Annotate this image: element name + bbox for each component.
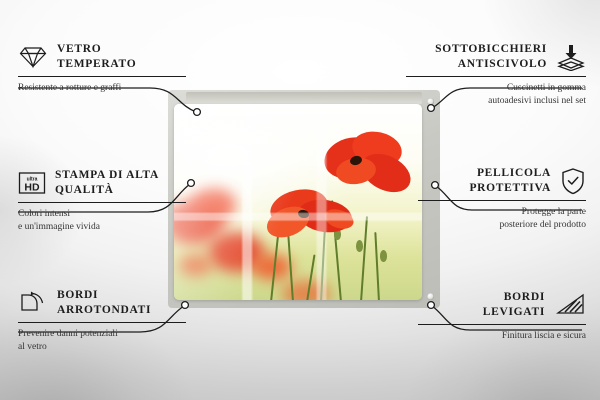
feature-desc: Prevenire danni potenziali: [18, 328, 186, 341]
feature-title: PELLICOLA: [469, 166, 551, 181]
polished-edge-stripes-icon: [554, 293, 586, 317]
feature-desc: Protegge la parte: [418, 206, 586, 219]
feature-title: LEVIGATI: [483, 305, 545, 320]
board-top-strip: [186, 92, 422, 104]
feature-title: TEMPERATO: [57, 57, 136, 72]
feature-title: ANTISCIVOLO: [435, 57, 547, 72]
feature-desc: Colori intensi: [18, 208, 186, 221]
glass-panel-artwork: [174, 104, 422, 300]
feature-rule: [18, 322, 186, 323]
infographic-canvas: VETRO TEMPERATO Resistente a rotture e g…: [0, 0, 600, 400]
feature-rule: [418, 200, 586, 201]
feature-desc: posteriore del prodotto: [418, 219, 586, 232]
feature-desc: al vetro: [18, 341, 186, 354]
feature-rule: [406, 76, 586, 77]
feature-desc: e un'immagine vivida: [18, 221, 186, 234]
glass-glare: [192, 104, 218, 124]
rounded-corner-icon: [18, 290, 48, 316]
feature-stampa-alta-qualita: ultra HD STAMPA DI ALTA QUALITÀ Colori i…: [18, 168, 186, 233]
feature-desc: autoadesivi inclusi nel set: [406, 95, 586, 108]
feature-desc: Finitura liscia e sicura: [418, 330, 586, 343]
feature-title: STAMPA DI ALTA: [55, 168, 159, 183]
feature-desc: Cuscinetti in gomma: [406, 82, 586, 95]
feature-title: BORDI: [57, 288, 151, 303]
feature-title: PROTETTIVA: [469, 181, 551, 196]
feature-title: VETRO: [57, 42, 136, 57]
feature-title: QUALITÀ: [55, 183, 159, 198]
ultra-hd-badge-icon: ultra HD: [18, 171, 46, 195]
feature-sottobicchieri-antiscivolo: SOTTOBICCHIERI ANTISCIVOLO Cuscinetti in…: [406, 42, 586, 107]
feature-rule: [18, 202, 186, 203]
feature-desc: Resistente a rotture e graffi: [18, 82, 186, 95]
product-image: [168, 90, 440, 308]
feature-title: ARROTONDATI: [57, 303, 151, 318]
non-slip-pad-icon: [556, 43, 586, 71]
feature-rule: [18, 76, 186, 77]
shield-check-icon: [560, 167, 586, 195]
feature-title: SOTTOBICCHIERI: [435, 42, 547, 57]
feature-vetro-temperato: VETRO TEMPERATO Resistente a rotture e g…: [18, 42, 186, 95]
feature-bordi-arrotondati: BORDI ARROTONDATI Prevenire danni potenz…: [18, 288, 186, 353]
feature-title: BORDI: [483, 290, 545, 305]
svg-text:HD: HD: [24, 181, 40, 193]
feature-pellicola-protettiva: PELLICOLA PROTETTIVA Protegge la parte p…: [418, 166, 586, 231]
diamond-icon: [18, 45, 48, 69]
feature-rule: [418, 324, 586, 325]
feature-bordi-levigati: BORDI LEVIGATI Finitura liscia e sicura: [418, 290, 586, 343]
